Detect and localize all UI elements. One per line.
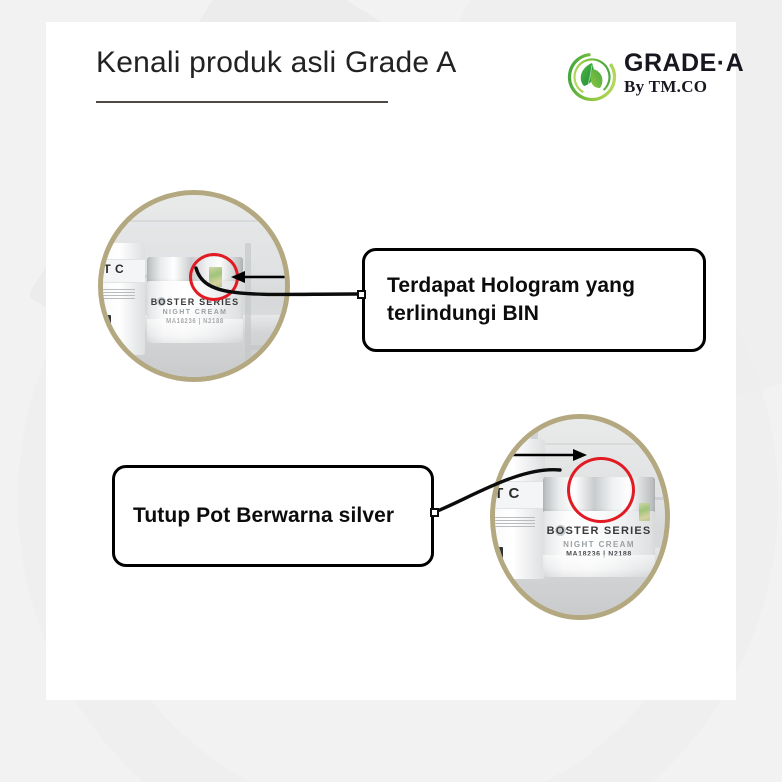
vitc-bottle-volume: 100ml: [103, 315, 111, 325]
scene-door-edge: [245, 243, 251, 363]
scene-wall-seam-upper: [103, 220, 285, 222]
hologram-sticker: [639, 503, 650, 521]
jar-variant-text: NIGHT CREAM: [543, 540, 655, 549]
callout-hologram[interactable]: Terdapat Hologram yang terlindungi BIN: [362, 248, 706, 352]
silver-lid-highlight-circle: [567, 457, 635, 523]
vitc-bottle-fineprint: [495, 517, 535, 529]
infographic-canvas: Kenali produk asli Grade A: [0, 0, 782, 782]
callout-hologram-text: Terdapat Hologram yang terlindungi BIN: [387, 272, 681, 328]
vitc-bottle-volume: 100ml: [495, 547, 503, 558]
connector-node-silver-lid: [430, 508, 439, 517]
product-photo-silver-lid: VIT C 100ml BOSTER SERIES NIGHT CREAM MA…: [490, 414, 670, 620]
vitc-bottle-fineprint: [103, 289, 135, 301]
silver-lid-pointer-arrow: [505, 447, 587, 463]
hologram-pointer-arrow: [231, 269, 285, 285]
photo-scene: VIT C 100ml BOSTER SERIES NIGHT CREAM MA…: [495, 419, 665, 615]
title-underline: [96, 101, 388, 103]
scene-handle: [251, 345, 273, 350]
logo-wordmark: GRADE·A By TM.CO: [624, 50, 744, 96]
brand-logo: GRADE·A By TM.CO: [566, 48, 736, 106]
callout-silver-lid[interactable]: Tutup Pot Berwarna silver: [112, 465, 434, 567]
jar-brand-text: BOSTER SERIES: [147, 297, 243, 307]
jar-variant-text: NIGHT CREAM: [147, 309, 243, 316]
product-photo-hologram: VIT C 100ml BOSTER SERIES NIGHT CREAM MA…: [98, 190, 290, 382]
jar-reflection: [543, 555, 655, 577]
logo-sub-text: By TM.CO: [624, 77, 744, 96]
jar-brand-text: BOSTER SERIES: [543, 525, 655, 537]
connector-node-hologram: [357, 290, 366, 299]
page-title: Kenali produk asli Grade A: [96, 46, 456, 80]
callout-silver-lid-text: Tutup Pot Berwarna silver: [133, 502, 394, 530]
leaf-emblem-icon: [566, 51, 618, 103]
photo-scene: VIT C 100ml BOSTER SERIES NIGHT CREAM MA…: [103, 195, 285, 377]
vitc-bottle-text: VIT C: [495, 485, 520, 502]
vitc-bottle-text: VIT C: [103, 262, 124, 276]
vitc-bottle: VIT C 100ml: [103, 243, 145, 355]
logo-main-text: GRADE·A: [624, 50, 744, 77]
jar-reflection: [147, 319, 243, 343]
